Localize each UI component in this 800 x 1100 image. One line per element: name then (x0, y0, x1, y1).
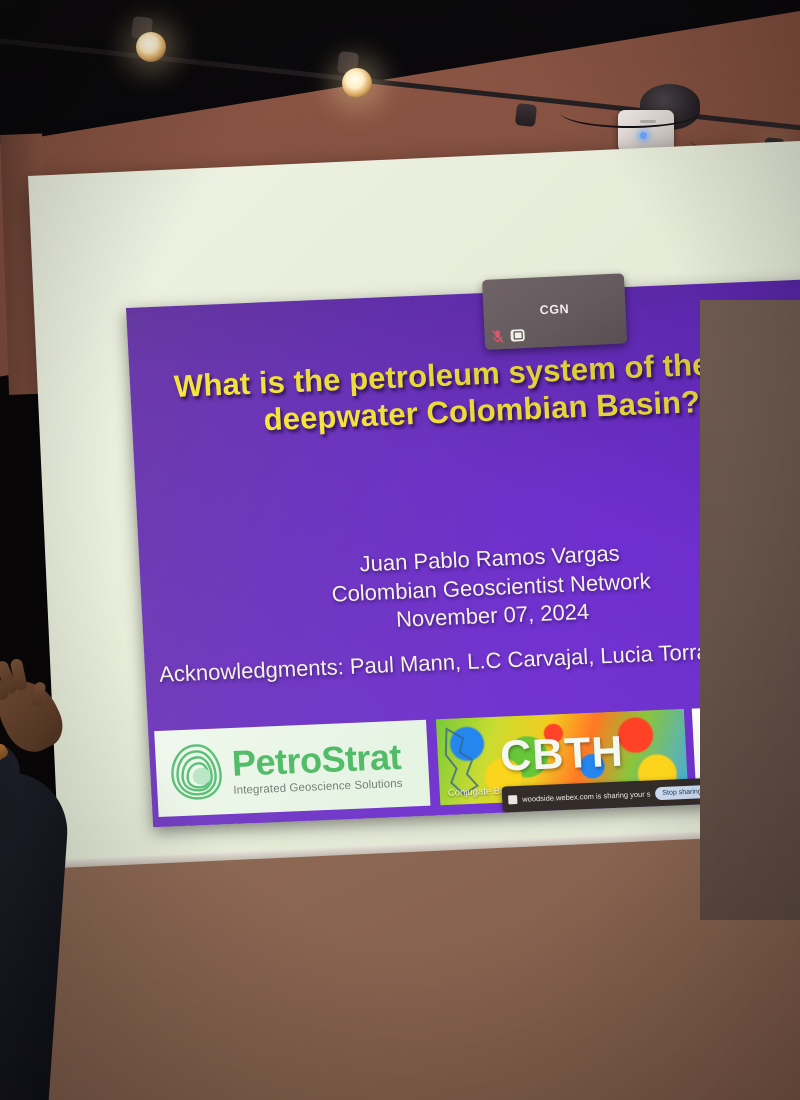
petrostrat-logo: PetroStrat Integrated Geoscience Solutio… (154, 720, 430, 817)
share-message: woodside.webex.com is sharing your scree… (522, 789, 651, 803)
screen-share-badge-icon (510, 329, 525, 342)
presenter-pointing-hand (0, 671, 71, 760)
microphone-muted-icon (491, 329, 504, 344)
spotlight-housing-3 (515, 103, 537, 127)
spotlight-2 (342, 68, 372, 98)
thumb (31, 681, 47, 707)
spotlight-1 (136, 32, 166, 62)
ceiling-cable (560, 96, 700, 128)
video-participant-tile[interactable]: CGN (482, 273, 627, 350)
petrostrat-contour-icon (165, 740, 230, 805)
video-tile-label: CGN (483, 299, 626, 320)
status-led-icon (640, 132, 647, 139)
presentation-slide: What is the petroleum system of the ultr… (126, 279, 800, 828)
share-screen-icon (508, 795, 517, 804)
petrostrat-wordmark: PetroStrat (231, 738, 402, 781)
cbth-wordmark: CBTH (437, 725, 687, 784)
presenter (0, 630, 160, 1100)
right-wall (700, 300, 800, 920)
presenter-suit (0, 764, 71, 1100)
conference-room-photo: What is the petroleum system of the ultr… (0, 0, 800, 1100)
